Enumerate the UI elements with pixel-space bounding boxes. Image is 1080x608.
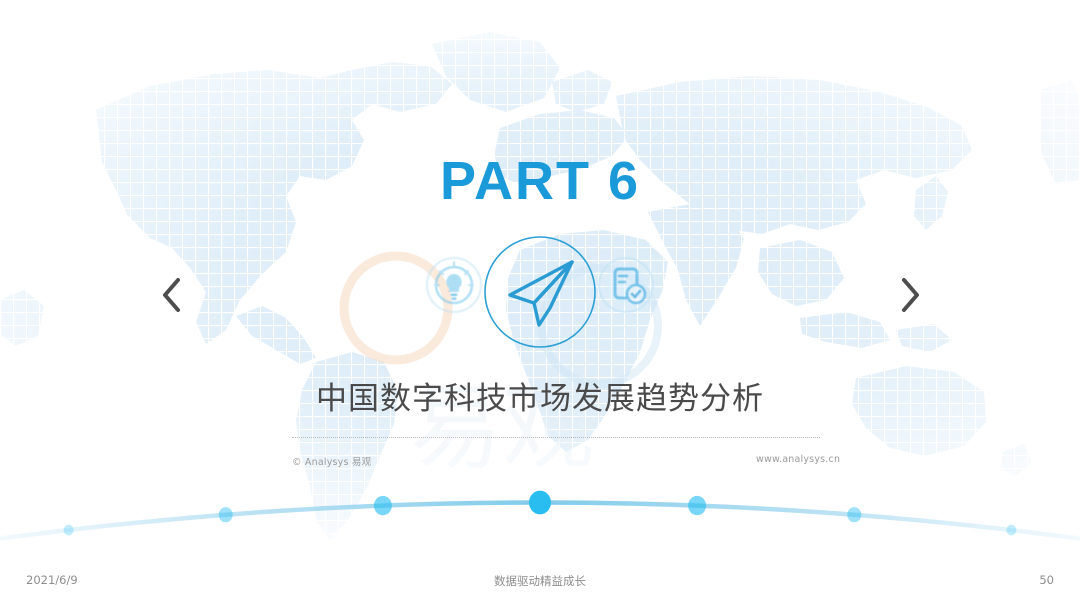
- chevron-left-icon: [158, 275, 184, 315]
- lightbulb-icon: [423, 254, 485, 316]
- next-section-arrow[interactable]: [888, 272, 934, 318]
- arc-path: [0, 503, 1080, 541]
- progress-dot[interactable]: [64, 525, 74, 536]
- website-url[interactable]: www.analysys.cn: [756, 454, 840, 465]
- progress-dot[interactable]: [847, 507, 861, 522]
- footer-tagline: 数据驱动精益成长: [0, 573, 1080, 589]
- progress-dot-group: [64, 491, 1017, 536]
- slide-footer: 2021/6/9 数据驱动精益成长 50: [0, 573, 1080, 597]
- page-title: 中国数字科技市场发展趋势分析: [0, 373, 1080, 418]
- progress-dot[interactable]: [374, 496, 392, 515]
- divider-rule: [292, 437, 820, 439]
- progress-dot[interactable]: [1006, 525, 1016, 536]
- copyright-text: © Analysys 易观: [292, 454, 371, 468]
- part-label: PART 6: [0, 150, 1080, 212]
- progress-dot[interactable]: [219, 507, 233, 522]
- progress-dot-active[interactable]: [529, 491, 551, 515]
- paper-plane-icon: [480, 232, 600, 352]
- icon-cluster: [420, 232, 660, 356]
- chevron-right-icon: [898, 275, 924, 315]
- progress-dot[interactable]: [688, 496, 706, 515]
- prev-section-arrow[interactable]: [148, 272, 194, 318]
- footer-page-number: 50: [1039, 573, 1054, 587]
- document-check-icon: [595, 254, 657, 316]
- slide-canvas: 易观 PART 6: [0, 0, 1080, 608]
- progress-arc: [0, 455, 1080, 560]
